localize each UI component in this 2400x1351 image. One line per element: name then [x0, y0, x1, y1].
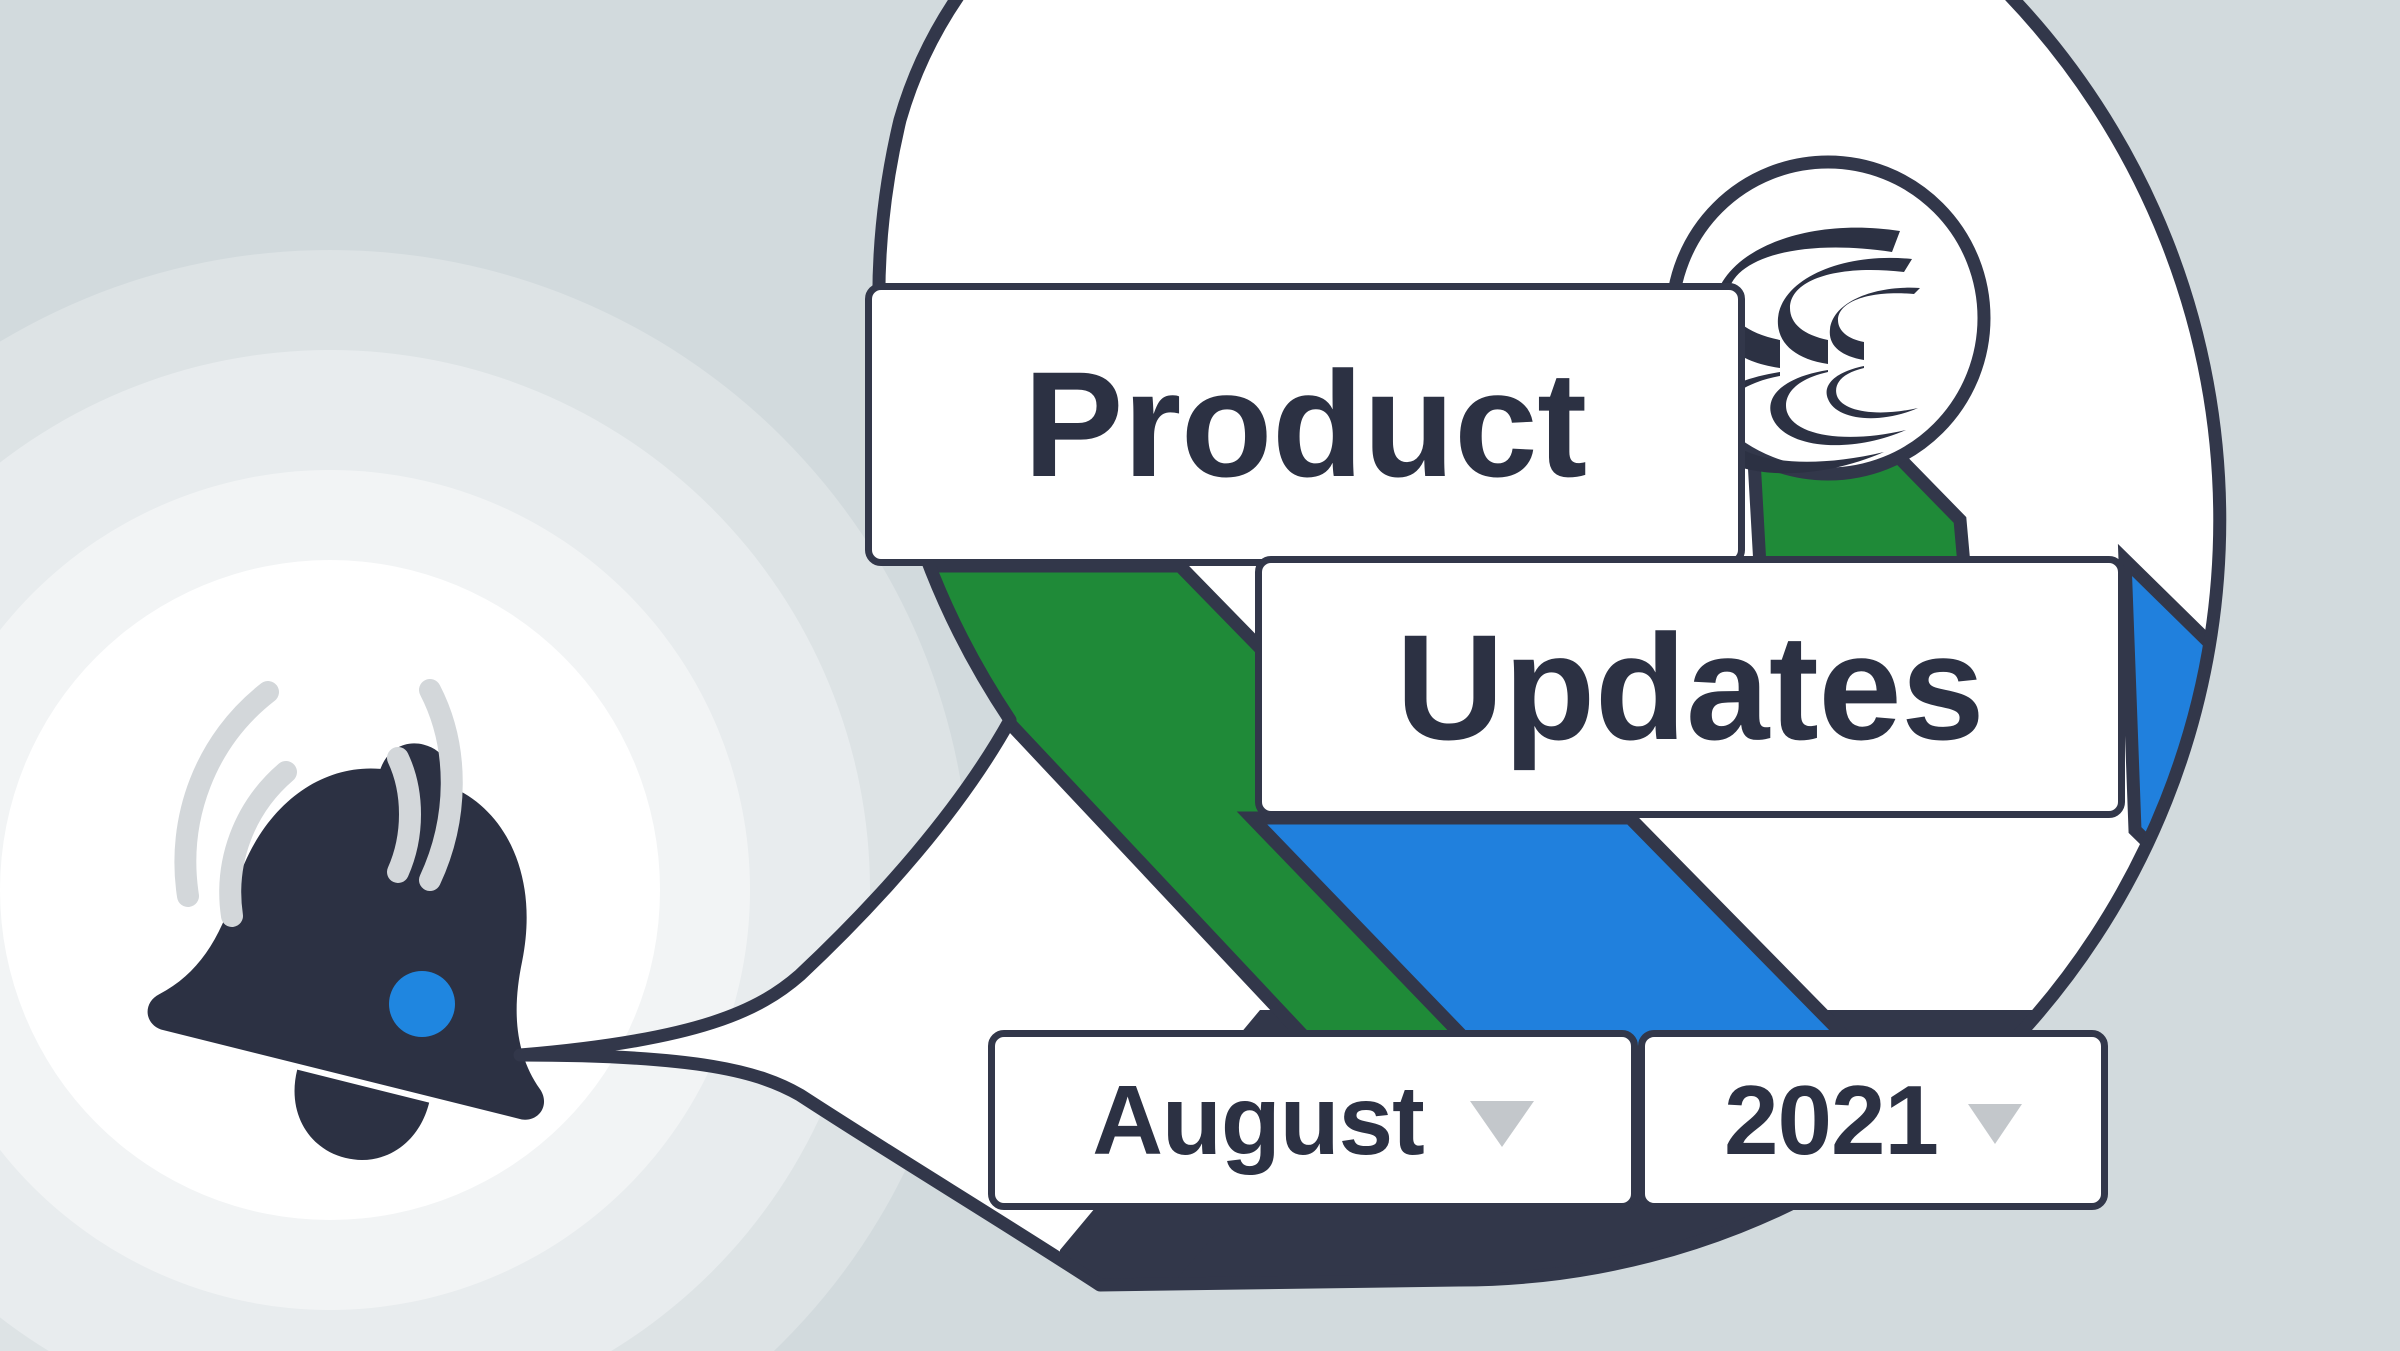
- year-dropdown-value: 2021: [1724, 1064, 1938, 1177]
- chevron-down-icon[interactable]: [1470, 1101, 1534, 1147]
- month-dropdown-value: August: [1092, 1064, 1424, 1177]
- chevron-down-icon[interactable]: [1968, 1104, 2022, 1144]
- product-updates-banner: Product Updates August 2021: [0, 0, 2400, 1351]
- title-card-updates: Updates: [1255, 556, 2125, 818]
- year-dropdown[interactable]: 2021: [1638, 1030, 2108, 1210]
- title-line-product: Product: [1023, 338, 1586, 511]
- unread-dot-icon: [389, 971, 455, 1037]
- title-card-product: Product: [865, 283, 1745, 566]
- title-line-updates: Updates: [1396, 601, 1984, 774]
- month-dropdown[interactable]: August: [988, 1030, 1638, 1210]
